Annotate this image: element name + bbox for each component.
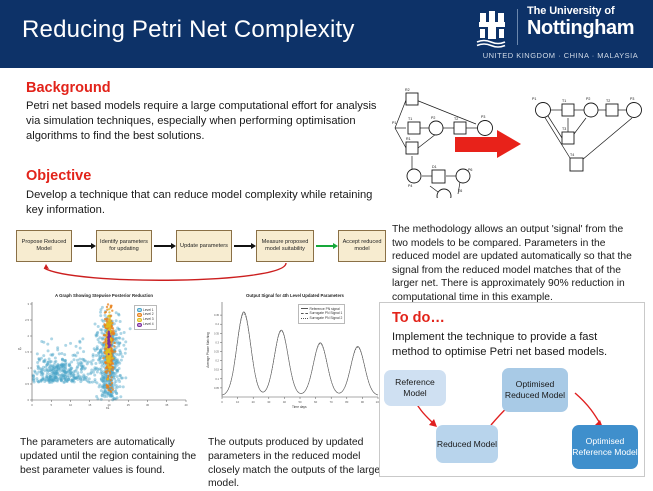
svg-text:10: 10	[69, 403, 73, 407]
svg-text:20: 20	[252, 400, 256, 404]
svg-text:80: 80	[345, 400, 349, 404]
caption-right: The outputs produced by updated paramete…	[208, 436, 383, 491]
legend-item: Level 4	[137, 322, 154, 327]
background-text: Petri net based models require a large c…	[26, 99, 378, 143]
svg-text:40: 40	[283, 400, 287, 404]
chart-stepwise-posterior-reduction: A Graph Showing Stepwise Posterior Reduc…	[16, 292, 192, 414]
legend-swatch	[301, 318, 308, 319]
objective-text: Develop a technique that can reduce mode…	[26, 188, 378, 218]
svg-text:T3: T3	[562, 127, 566, 131]
svg-text:0.5: 0.5	[25, 382, 29, 386]
legend-swatch	[137, 313, 142, 318]
legend-label: Level 4	[143, 322, 154, 327]
logo-wordmark: The University of Nottingham	[527, 6, 634, 38]
logo-subtitle: UNITED KINGDOM · CHINA · MALAYSIA	[478, 51, 643, 60]
svg-text:50: 50	[298, 400, 302, 404]
methodology-flowchart: Propose Reduced Model Identify parameter…	[14, 224, 386, 286]
caption-left: The parameters are automatically updated…	[20, 436, 200, 477]
svg-text:T1: T1	[562, 99, 566, 103]
poster-header: Reducing Petri Net Complexity The Univer…	[0, 0, 653, 68]
model-node-optimised-reference: Optimised Reference Model	[572, 425, 638, 469]
svg-text:70: 70	[330, 400, 334, 404]
line-xlabel: Time days	[292, 405, 307, 409]
model-node-reference: Reference Model	[384, 370, 446, 406]
scatter-legend: Level 1 Level 2 Level 3 Level 4	[134, 305, 157, 330]
logo-divider	[517, 9, 518, 45]
scatter-xlabel: x1	[106, 406, 109, 410]
objective-heading: Objective	[26, 168, 91, 184]
model-node-optimised-reduced: Optimised Reduced Model	[502, 368, 568, 412]
svg-text:1.5: 1.5	[25, 350, 29, 354]
svg-text:5: 5	[50, 403, 52, 407]
svg-text:60: 60	[314, 400, 318, 404]
line-ylabel: Average Phase Matching	[206, 332, 210, 368]
background-heading: Background	[26, 80, 111, 96]
svg-text:0.05: 0.05	[214, 386, 220, 390]
legend-swatch	[301, 313, 308, 314]
svg-text:0: 0	[27, 398, 29, 402]
svg-text:40: 40	[184, 403, 188, 407]
svg-text:0.2: 0.2	[215, 359, 219, 363]
svg-text:D1: D1	[432, 165, 437, 169]
svg-text:T1: T1	[408, 117, 412, 121]
svg-text:P3: P3	[481, 115, 485, 119]
petri-reduced-svg: P1 T1 P2 T2 P3 T3 T4	[528, 88, 646, 183]
legend-item: Surrogate PN Signal 2	[301, 316, 342, 321]
methodology-text: The methodology allows an output 'signal…	[392, 223, 642, 304]
svg-text:T2: T2	[606, 99, 610, 103]
svg-text:3: 3	[27, 302, 29, 306]
svg-text:0: 0	[221, 400, 223, 404]
poster-canvas: Reducing Petri Net Complexity The Univer…	[0, 0, 653, 489]
todo-text: Implement the technique to provide a fas…	[392, 330, 637, 360]
svg-text:35: 35	[165, 403, 169, 407]
svg-text:P6: P6	[468, 168, 472, 172]
svg-text:R2: R2	[405, 88, 410, 92]
svg-text:P1: P1	[532, 97, 536, 101]
svg-text:0.35: 0.35	[214, 331, 220, 335]
logo-line-1: The University of	[527, 6, 634, 17]
university-logo: The University of Nottingham UNITED KING…	[473, 6, 643, 64]
line-legend: Reference PN signal Surrogate PN Signal …	[298, 304, 345, 324]
svg-text:15: 15	[88, 403, 92, 407]
svg-text:R1: R1	[406, 137, 411, 141]
svg-text:0.25: 0.25	[214, 350, 220, 354]
svg-text:30: 30	[146, 403, 150, 407]
legend-swatch	[137, 323, 142, 328]
flow-feedback-arrow	[14, 224, 386, 286]
line-plot-area: 0102030405060708090100 0.050.10.150.20.2…	[206, 292, 384, 414]
svg-text:2.5: 2.5	[25, 318, 29, 322]
svg-text:10: 10	[236, 400, 240, 404]
svg-text:0: 0	[31, 403, 33, 407]
svg-text:P2: P2	[586, 97, 590, 101]
svg-text:T6: T6	[458, 189, 462, 193]
logo-line-2: Nottingham	[527, 18, 634, 38]
legend-swatch	[301, 308, 308, 309]
header-divider	[0, 68, 653, 70]
svg-text:P4: P4	[408, 184, 412, 188]
scatter-plot-area: 0510152025303540 00.511.522.53	[16, 292, 192, 414]
svg-text:T4: T4	[570, 153, 574, 157]
svg-text:0.4: 0.4	[215, 322, 219, 326]
svg-text:0.3: 0.3	[215, 340, 219, 344]
model-node-reduced: Reduced Model	[436, 425, 498, 463]
legend-label: Surrogate PN Signal 2	[310, 316, 343, 321]
petri-net-reduced: P1 T1 P2 T2 P3 T3 T4	[528, 88, 646, 183]
legend-swatch	[137, 308, 142, 313]
svg-text:1: 1	[27, 366, 29, 370]
svg-text:P3: P3	[630, 97, 634, 101]
page-title: Reducing Petri Net Complexity	[22, 16, 355, 44]
svg-text:P2: P2	[431, 116, 435, 120]
svg-text:30: 30	[267, 400, 271, 404]
chart-output-signal: Output Signal for 4th Level Updated Para…	[206, 292, 384, 414]
svg-text:25: 25	[127, 403, 131, 407]
svg-text:0.1: 0.1	[215, 377, 219, 381]
todo-heading: To do…	[392, 310, 445, 326]
svg-text:90: 90	[361, 400, 365, 404]
reduction-arrow-icon	[455, 130, 521, 158]
svg-text:0.45: 0.45	[214, 313, 220, 317]
svg-text:P1: P1	[392, 121, 396, 125]
svg-text:2: 2	[27, 334, 29, 338]
castle-crest-icon	[475, 8, 509, 48]
legend-swatch	[137, 318, 142, 323]
scatter-ylabel: x2	[18, 347, 21, 351]
svg-text:0.15: 0.15	[214, 368, 220, 372]
svg-text:T2: T2	[454, 117, 458, 121]
